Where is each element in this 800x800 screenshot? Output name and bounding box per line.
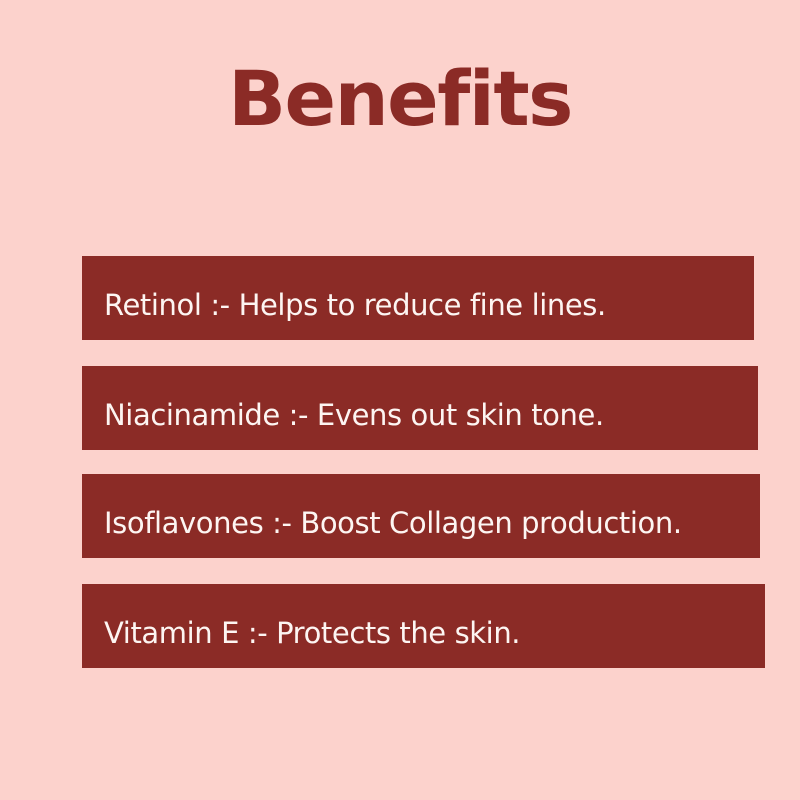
benefits-poster: Benefits Retinol :- Helps to reduce fine… <box>0 0 800 800</box>
benefit-item-label: Isoflavones :- Boost Collagen production… <box>82 507 682 558</box>
benefit-item-niacinamide: Niacinamide :- Evens out skin tone. <box>82 366 758 450</box>
benefit-list: Retinol :- Helps to reduce fine lines. N… <box>0 0 800 800</box>
benefit-item-retinol: Retinol :- Helps to reduce fine lines. <box>82 256 754 340</box>
benefit-item-label: Retinol :- Helps to reduce fine lines. <box>82 289 606 340</box>
benefit-item-isoflavones: Isoflavones :- Boost Collagen production… <box>82 474 760 558</box>
benefit-item-label: Vitamin E :- Protects the skin. <box>82 617 520 668</box>
benefit-item-label: Niacinamide :- Evens out skin tone. <box>82 399 604 450</box>
benefit-item-vitamin-e: Vitamin E :- Protects the skin. <box>82 584 765 668</box>
